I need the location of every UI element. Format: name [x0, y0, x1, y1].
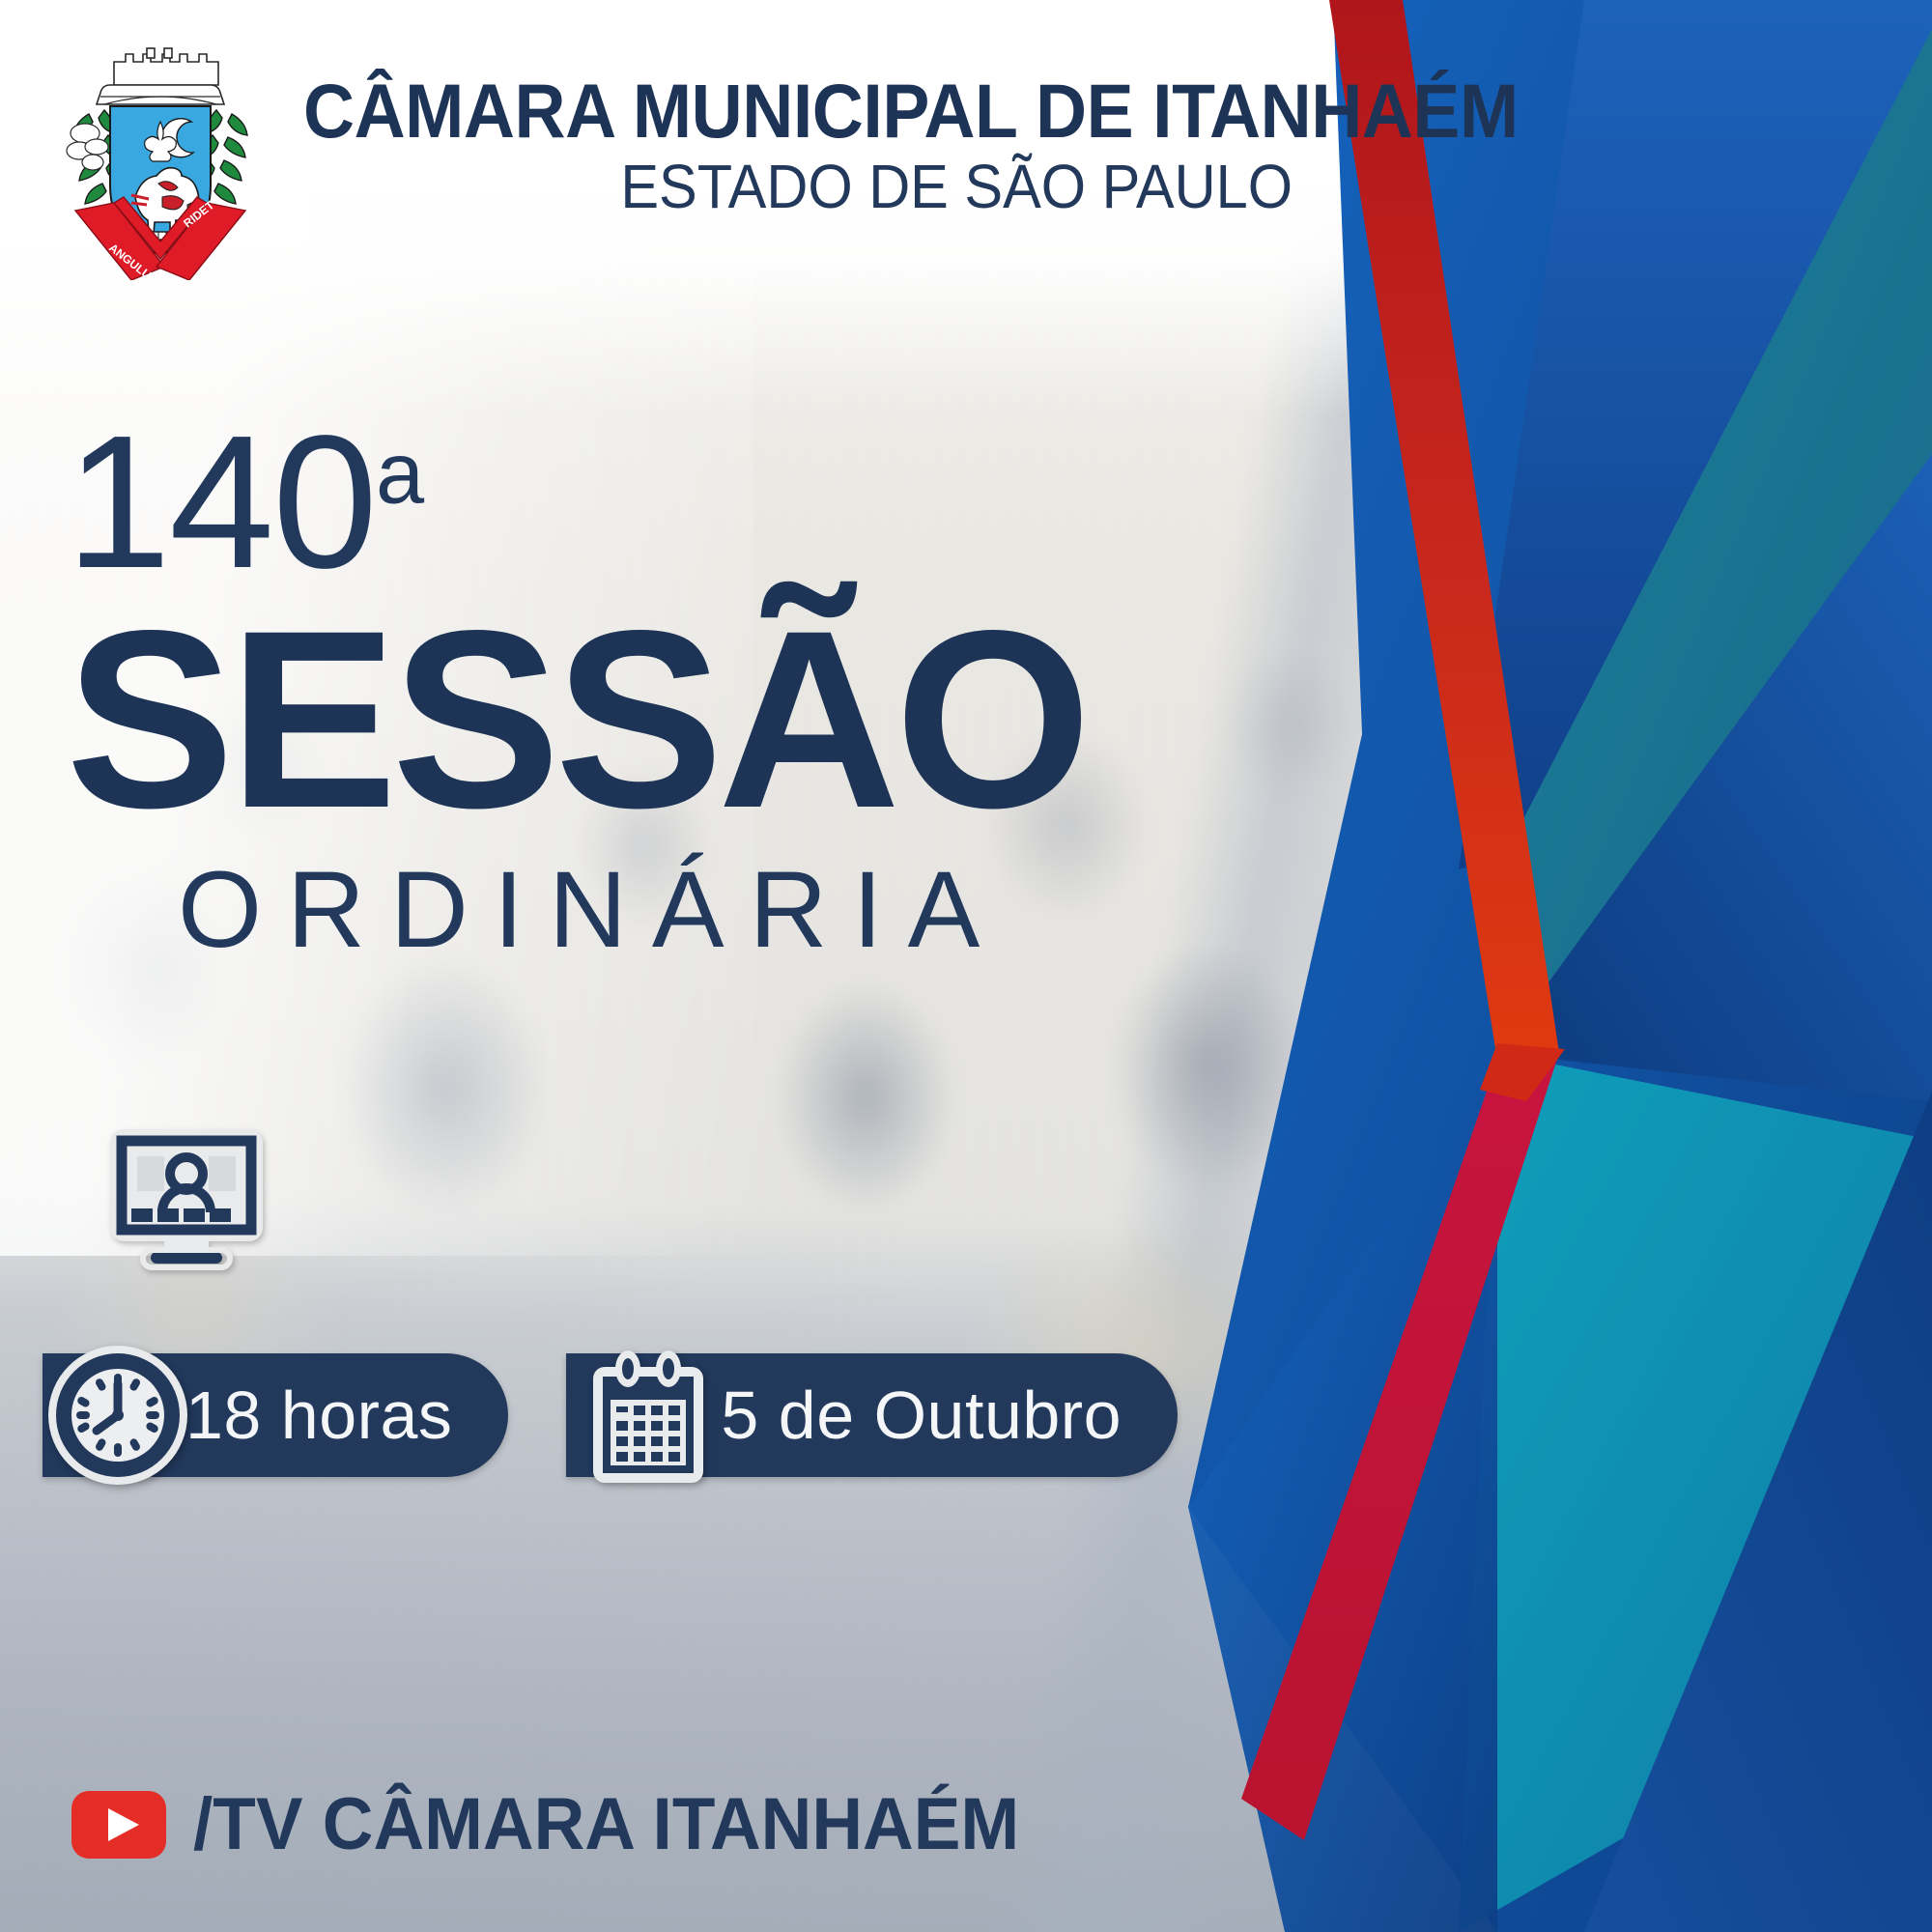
footer[interactable]: /TV CÂMARA ITANHAÉM — [71, 1782, 1054, 1866]
session-word: SESSÃO — [66, 611, 1225, 828]
youtube-handle[interactable]: /TV CÂMARA ITANHAÉM — [193, 1782, 1019, 1866]
header: ANGULUS RIDET CÂMARA MUNICIPAL DE ITANHA… — [50, 21, 1609, 280]
session-type: ORDINÁRIA — [178, 856, 1225, 964]
time-badge: 18 horas — [43, 1348, 508, 1483]
header-text-group: CÂMARA MUNICIPAL DE ITANHAÉM ESTADO DE S… — [303, 21, 1609, 225]
info-badges: 18 horas — [43, 1348, 1178, 1483]
calendar-icon — [580, 1342, 717, 1489]
ordinal-suffix: a — [376, 425, 422, 523]
session-number: 140 — [66, 396, 376, 608]
poster-canvas: ANGULUS RIDET CÂMARA MUNICIPAL DE ITANHA… — [0, 0, 1932, 1932]
coat-of-arms-icon: ANGULUS RIDET — [50, 21, 270, 280]
date-label: 5 de Outubro — [721, 1377, 1122, 1454]
youtube-icon[interactable] — [71, 1791, 166, 1859]
state-name: ESTADO DE SÃO PAULO — [349, 148, 1564, 225]
clock-icon — [44, 1342, 191, 1489]
presentation-screen-icon — [104, 1123, 269, 1278]
date-badge: 5 de Outubro — [566, 1348, 1178, 1483]
organization-name: CÂMARA MUNICIPAL DE ITANHAÉM — [303, 73, 1519, 148]
session-ordinal: 140a — [66, 415, 1225, 589]
session-title-block: 140a SESSÃO ORDINÁRIA — [66, 415, 1225, 964]
geometric-decoration — [1043, 0, 1932, 1932]
time-label: 18 horas — [185, 1377, 452, 1454]
